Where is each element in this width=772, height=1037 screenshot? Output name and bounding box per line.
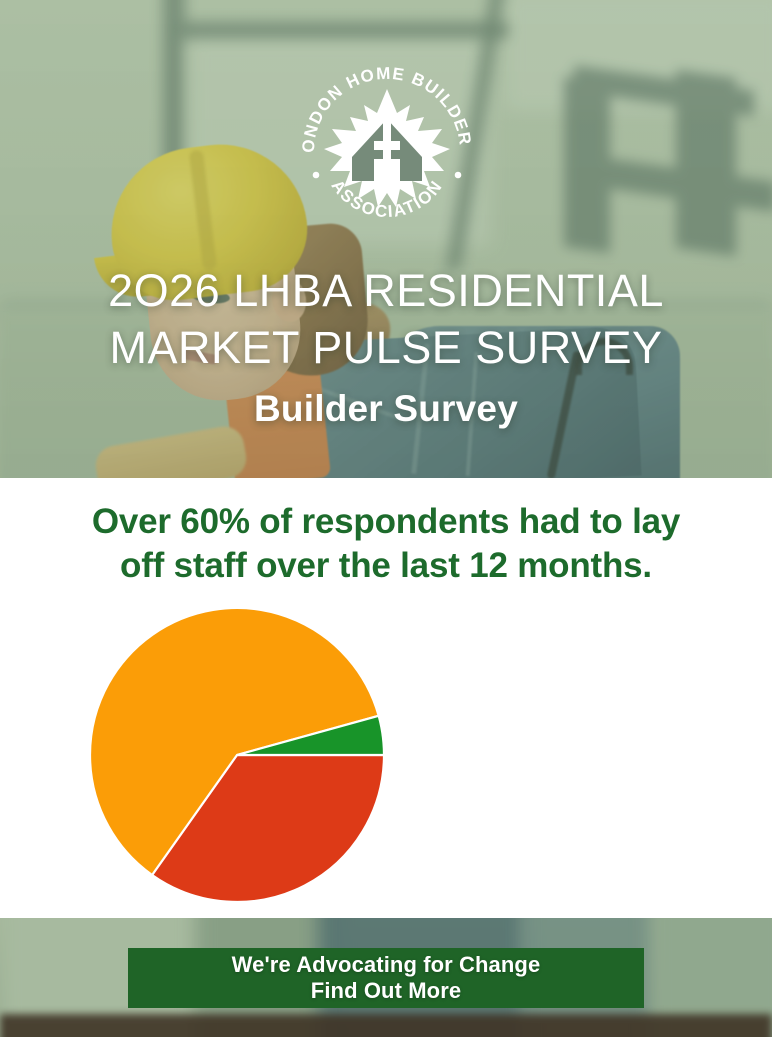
find-out-more-button[interactable]: We're Advocating for Change Find Out Mor… bbox=[128, 948, 644, 1008]
pie-slices bbox=[90, 608, 384, 902]
infographic-page: LONDON HOME BUILDERS' ASSOCIATION 2O26 L… bbox=[0, 0, 772, 1037]
footer-section: We're Advocating for Change Find Out Mor… bbox=[0, 918, 772, 1037]
pie-chart bbox=[89, 607, 385, 903]
cta-line-1: We're Advocating for Change bbox=[232, 952, 541, 978]
page-title: 2O26 LHBA RESIDENTIAL MARKET PULSE SURVE… bbox=[0, 262, 772, 376]
stat-headline: Over 60% of respondents had to lay off s… bbox=[26, 500, 746, 588]
content-section: Over 60% of respondents had to lay off s… bbox=[0, 478, 772, 918]
page-subtitle: Builder Survey bbox=[0, 388, 772, 430]
lhba-logo: LONDON HOME BUILDERS' ASSOCIATION bbox=[292, 57, 482, 247]
hero-section: LONDON HOME BUILDERS' ASSOCIATION 2O26 L… bbox=[0, 0, 772, 478]
cta-line-2: Find Out More bbox=[311, 978, 461, 1004]
hero-text-block: 2O26 LHBA RESIDENTIAL MARKET PULSE SURVE… bbox=[0, 262, 772, 430]
